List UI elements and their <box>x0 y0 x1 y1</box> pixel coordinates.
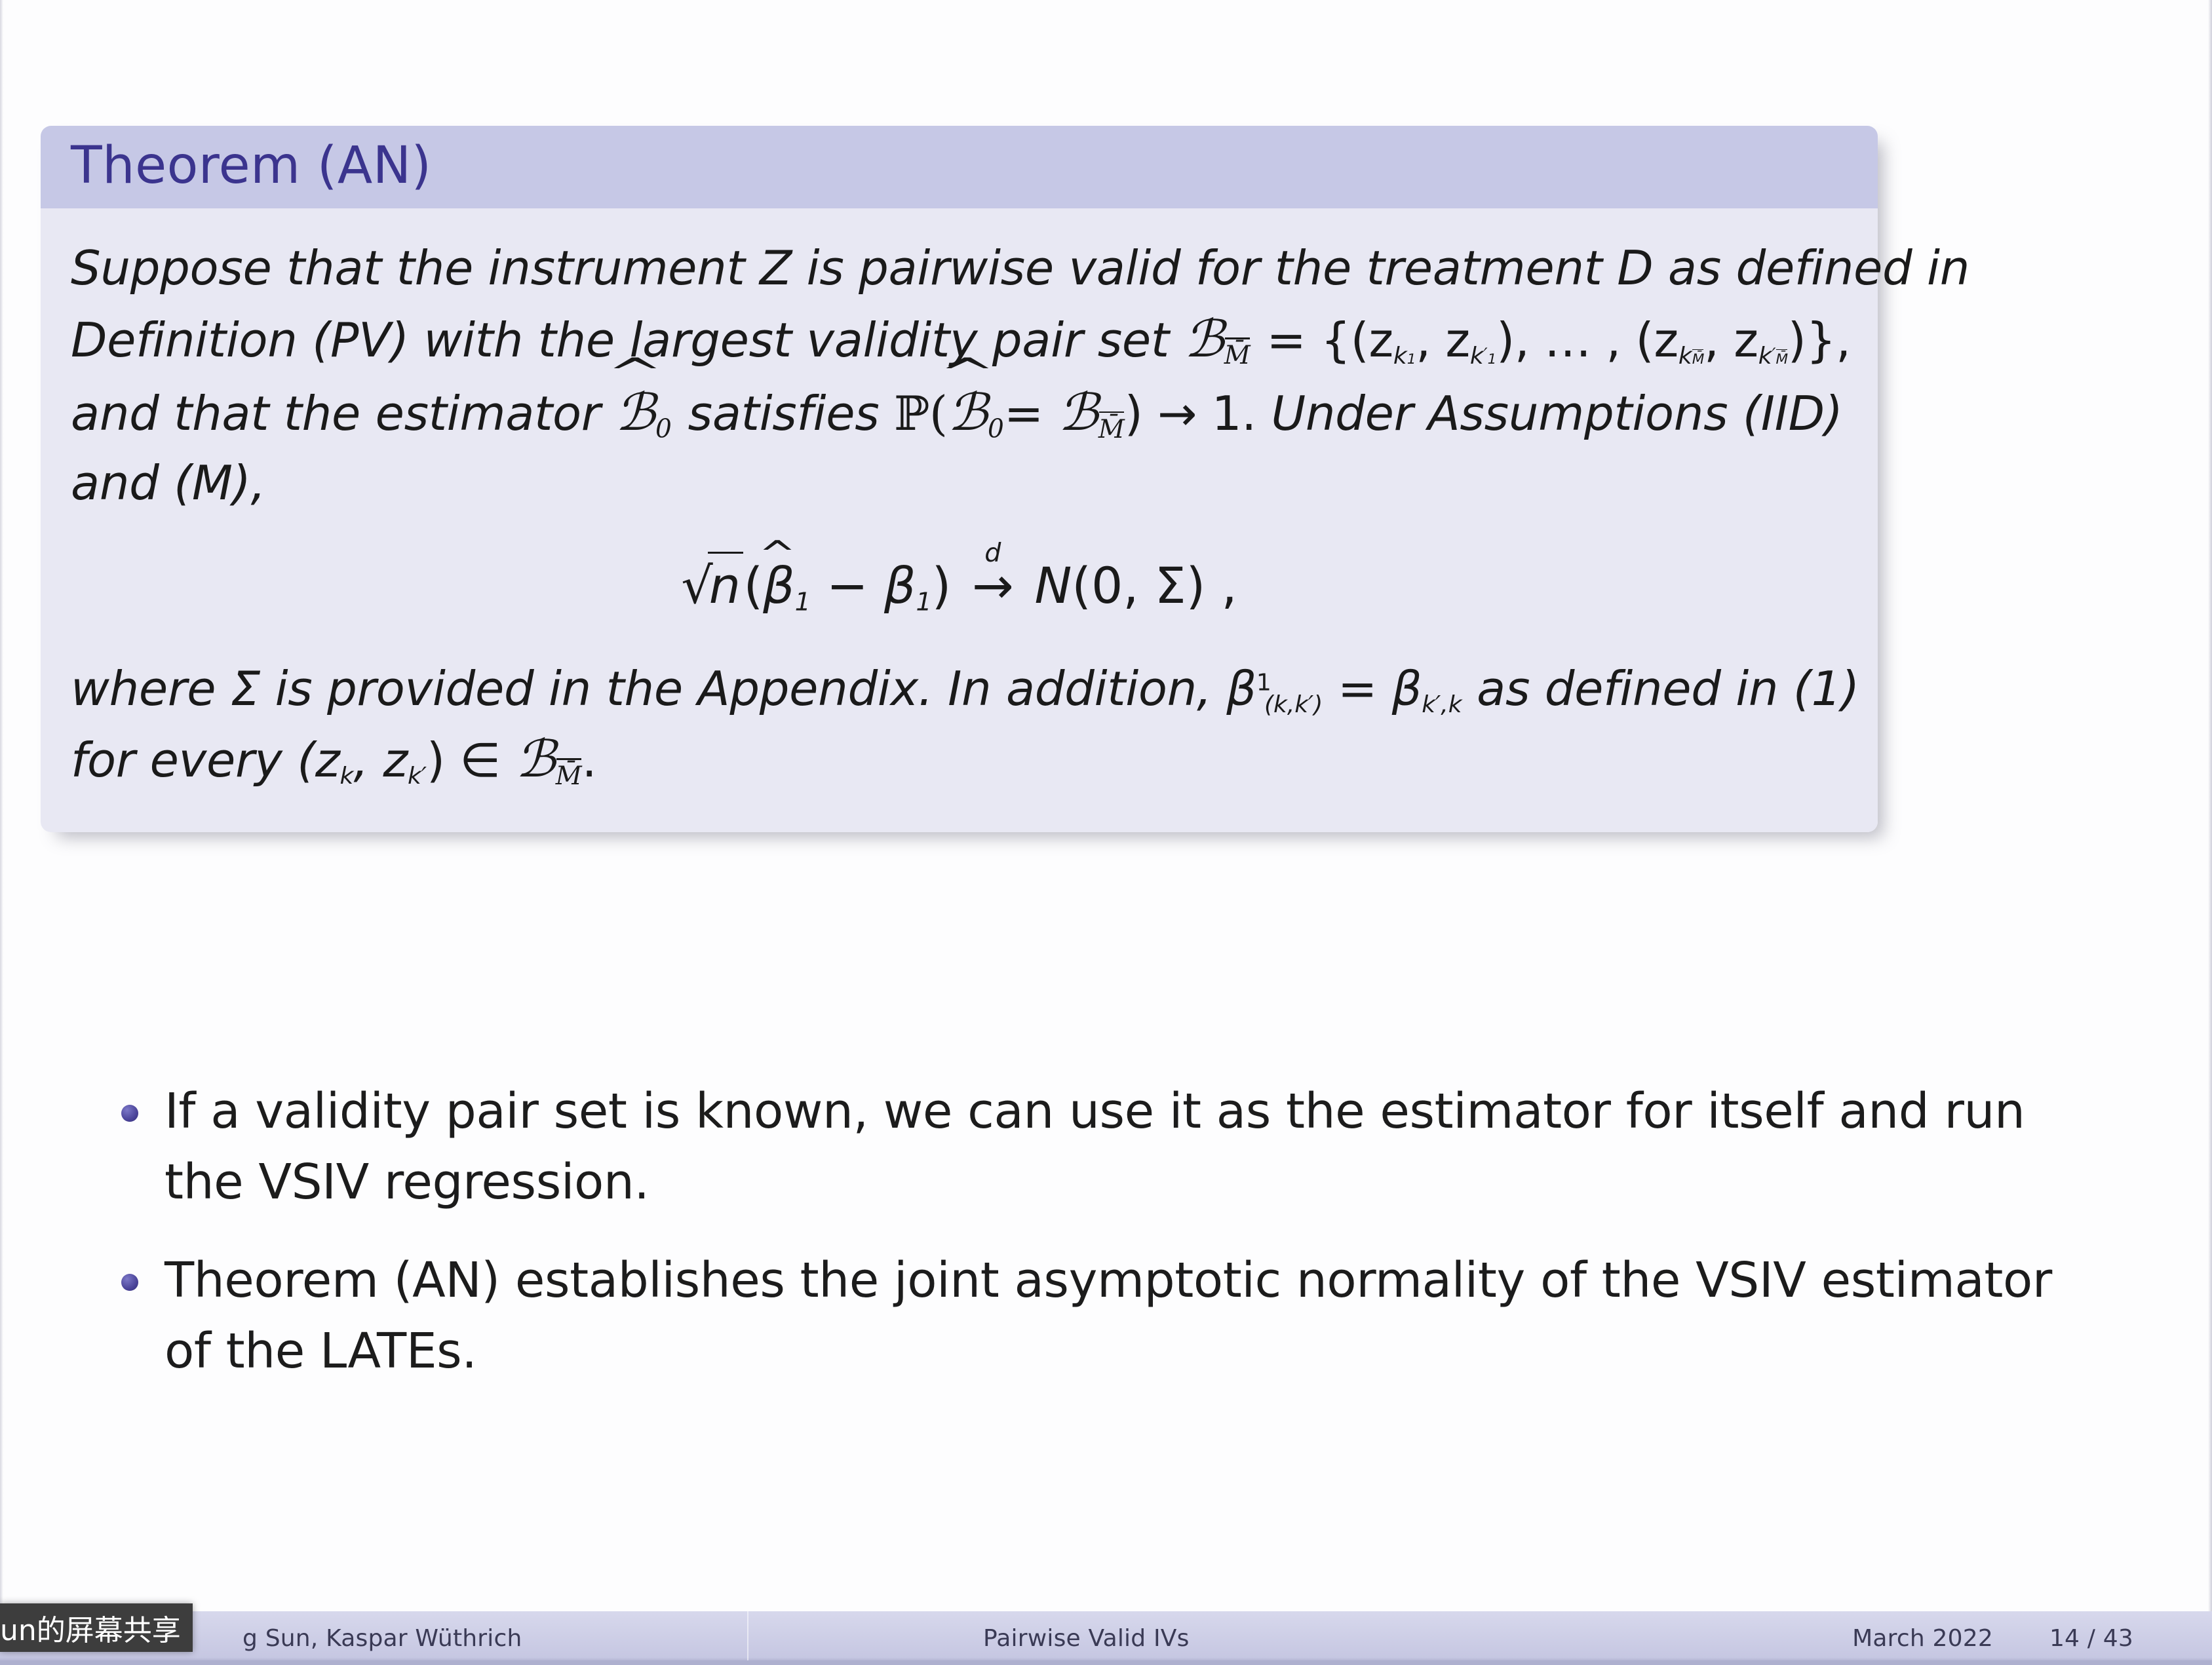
bullet-text-2: Theorem (AN) establishes the joint asymp… <box>165 1245 2111 1387</box>
slide-footer: g Sun, Kaspar Wüthrich Pairwise Valid IV… <box>0 1611 2212 1665</box>
beta-glyph-line5b: β <box>1392 661 1422 716</box>
theorem-line-1-text: Suppose that the instrument Z is pairwis… <box>71 240 1969 296</box>
bullet-list: If a validity pair set is known, we can … <box>121 1076 2127 1414</box>
theorem-body: Suppose that the instrument Z is pairwis… <box>41 208 1878 832</box>
footer-authors: g Sun, Kaspar Wüthrich <box>243 1625 522 1652</box>
footer-bottom-rule <box>0 1660 2212 1665</box>
beta-hat-symbol: β <box>763 554 795 619</box>
mbar-subscript: M̄ <box>1224 337 1251 375</box>
theorem-block: Theorem (AN) Suppose that the instrument… <box>41 126 1878 832</box>
display-equation: √n(β1 − β1) d→ N(0, Σ) , <box>71 552 1848 619</box>
script-z-hat-glyph: ℬ <box>615 376 655 450</box>
line6-kprime-subscript: k′ <box>408 763 427 790</box>
script-z-hat-zero-symbol-2: ℬ0 <box>948 383 1004 442</box>
slide-right-edge <box>2208 0 2212 1612</box>
line2-k1-prime-index: 1 <box>1488 351 1496 368</box>
theorem-line-6: for every (zk, zk′) ∈ ℬM̄. <box>71 723 1848 796</box>
theorem-line-1: Suppose that the instrument Z is pairwis… <box>71 235 1848 303</box>
theorem-line-3-suffix: Under Assumptions (IID) <box>1271 386 1842 441</box>
beta-subscript-kprimek: k′,k <box>1422 691 1462 718</box>
screen-share-badge-label: un的屏幕共享 <box>0 1607 181 1649</box>
screen-share-badge: un的屏幕共享 <box>0 1603 193 1652</box>
theorem-line-4: and (M), <box>71 450 1848 518</box>
presentation-slide: Theorem (AN) Suppose that the instrument… <box>0 0 2212 1665</box>
minus-sign: − <box>826 556 868 615</box>
sqrt-n: √n <box>681 552 743 619</box>
footer-presentation-title: Pairwise Valid IVs <box>983 1625 1190 1652</box>
beta-symbol: β <box>884 556 916 615</box>
line2-k1-index: 1 <box>1407 351 1416 368</box>
footer-date: March 2022 <box>1852 1625 1993 1652</box>
beta-glyph-line5: β <box>1226 661 1256 716</box>
theorem-line-5-prefix: where Σ is provided in the Appendix. In … <box>71 661 1212 716</box>
beta-indexed-symbol: β1(k,k′) <box>1226 661 1323 716</box>
theorem-line-4-text: and (M), <box>71 455 265 510</box>
mbar-subscript-2: M̄ <box>1098 411 1125 448</box>
bullet-text-1: If a validity pair set is known, we can … <box>165 1076 2111 1217</box>
line2-k1: k <box>1393 342 1407 369</box>
script-z-mbar-symbol-2: ℬM̄ <box>1058 383 1124 442</box>
line2-equals: = <box>1267 313 1306 368</box>
theorem-line-3-mid: satisfies <box>688 386 880 441</box>
line6-element-of: ) ∈ <box>427 733 501 788</box>
normal-dist-N: N <box>1034 556 1072 615</box>
script-z-glyph: ℬ <box>1184 310 1224 369</box>
beta-subscript-kkprime: (k,k′) <box>1264 691 1323 718</box>
theorem-header: Theorem (AN) <box>41 126 1878 208</box>
beta-subscript: 1 <box>916 587 931 616</box>
line2-comma-1: , z <box>1416 313 1470 368</box>
list-item: If a validity pair set is known, we can … <box>121 1076 2127 1217</box>
bullet-dot-icon <box>121 1274 138 1291</box>
radicand-n: n <box>708 552 743 619</box>
line6-k-subscript: k <box>340 763 353 790</box>
theorem-line-3-prefix: and that the estimator <box>71 386 600 441</box>
footer-divider <box>747 1611 748 1665</box>
line5-equals: = <box>1338 661 1377 716</box>
slide-left-edge <box>0 0 3 1612</box>
line6-comma: , z <box>353 733 408 788</box>
footer-meta: March 2022 14 / 43 <box>1852 1625 2133 1652</box>
script-z-hat-zero-symbol: ℬ0 <box>615 383 688 442</box>
script-z-zero-subscript: 0 <box>655 415 672 444</box>
line2-kM-prime: k <box>1758 342 1772 369</box>
theorem-line-6-prefix: for every (z <box>71 733 340 788</box>
theorem-title: Theorem (AN) <box>71 140 1848 191</box>
line6-period: . <box>582 733 597 788</box>
line2-kM-index: M̄ <box>1692 349 1704 370</box>
line2-set-open: {(z <box>1321 313 1393 368</box>
line2-set-close: )}, <box>1788 313 1851 368</box>
mbar-subscript-3: M̄ <box>556 757 582 795</box>
list-item: Theorem (AN) establishes the joint asymp… <box>121 1245 2127 1387</box>
script-z-hat-glyph-2: ℬ <box>948 376 988 450</box>
line2-comma-2: , z <box>1704 313 1758 368</box>
script-z-glyph-2: ℬ <box>1058 383 1098 442</box>
line2-k1-prime: k <box>1470 342 1484 369</box>
line3-equals: = <box>1004 386 1043 441</box>
line2-kM: k <box>1678 342 1692 369</box>
footer-page-number: 14 / 43 <box>2049 1625 2133 1652</box>
beta-kprime-k-symbol: βk′,k <box>1392 661 1462 716</box>
arrow-label-d: d <box>984 537 1001 570</box>
theorem-line-3: and that the estimator ℬ0 satisfies ℙ(ℬ0… <box>71 376 1848 450</box>
line3-to-one: ) → 1. <box>1125 386 1256 441</box>
script-z-mbar-symbol: ℬM̄ <box>1184 310 1266 369</box>
theorem-line-5: where Σ is provided in the Appendix. In … <box>71 655 1848 723</box>
script-z-glyph-3: ℬ <box>515 730 555 789</box>
paren-close: ) <box>932 556 952 615</box>
script-z-mbar-symbol-3: ℬM̄ <box>515 730 581 789</box>
script-z-zero-subscript-2: 0 <box>988 415 1004 444</box>
converges-in-distribution-arrow: d→ <box>967 554 1019 619</box>
bullet-dot-icon <box>121 1105 138 1122</box>
line2-kM-prime-index: M̄ <box>1775 349 1787 370</box>
beta-hat-subscript: 1 <box>795 587 811 616</box>
line2-dots: ), … , (z <box>1496 313 1678 368</box>
normal-dist-params: (0, Σ) , <box>1072 556 1237 615</box>
theorem-line-5-suffix: as defined in (1) <box>1477 661 1859 716</box>
